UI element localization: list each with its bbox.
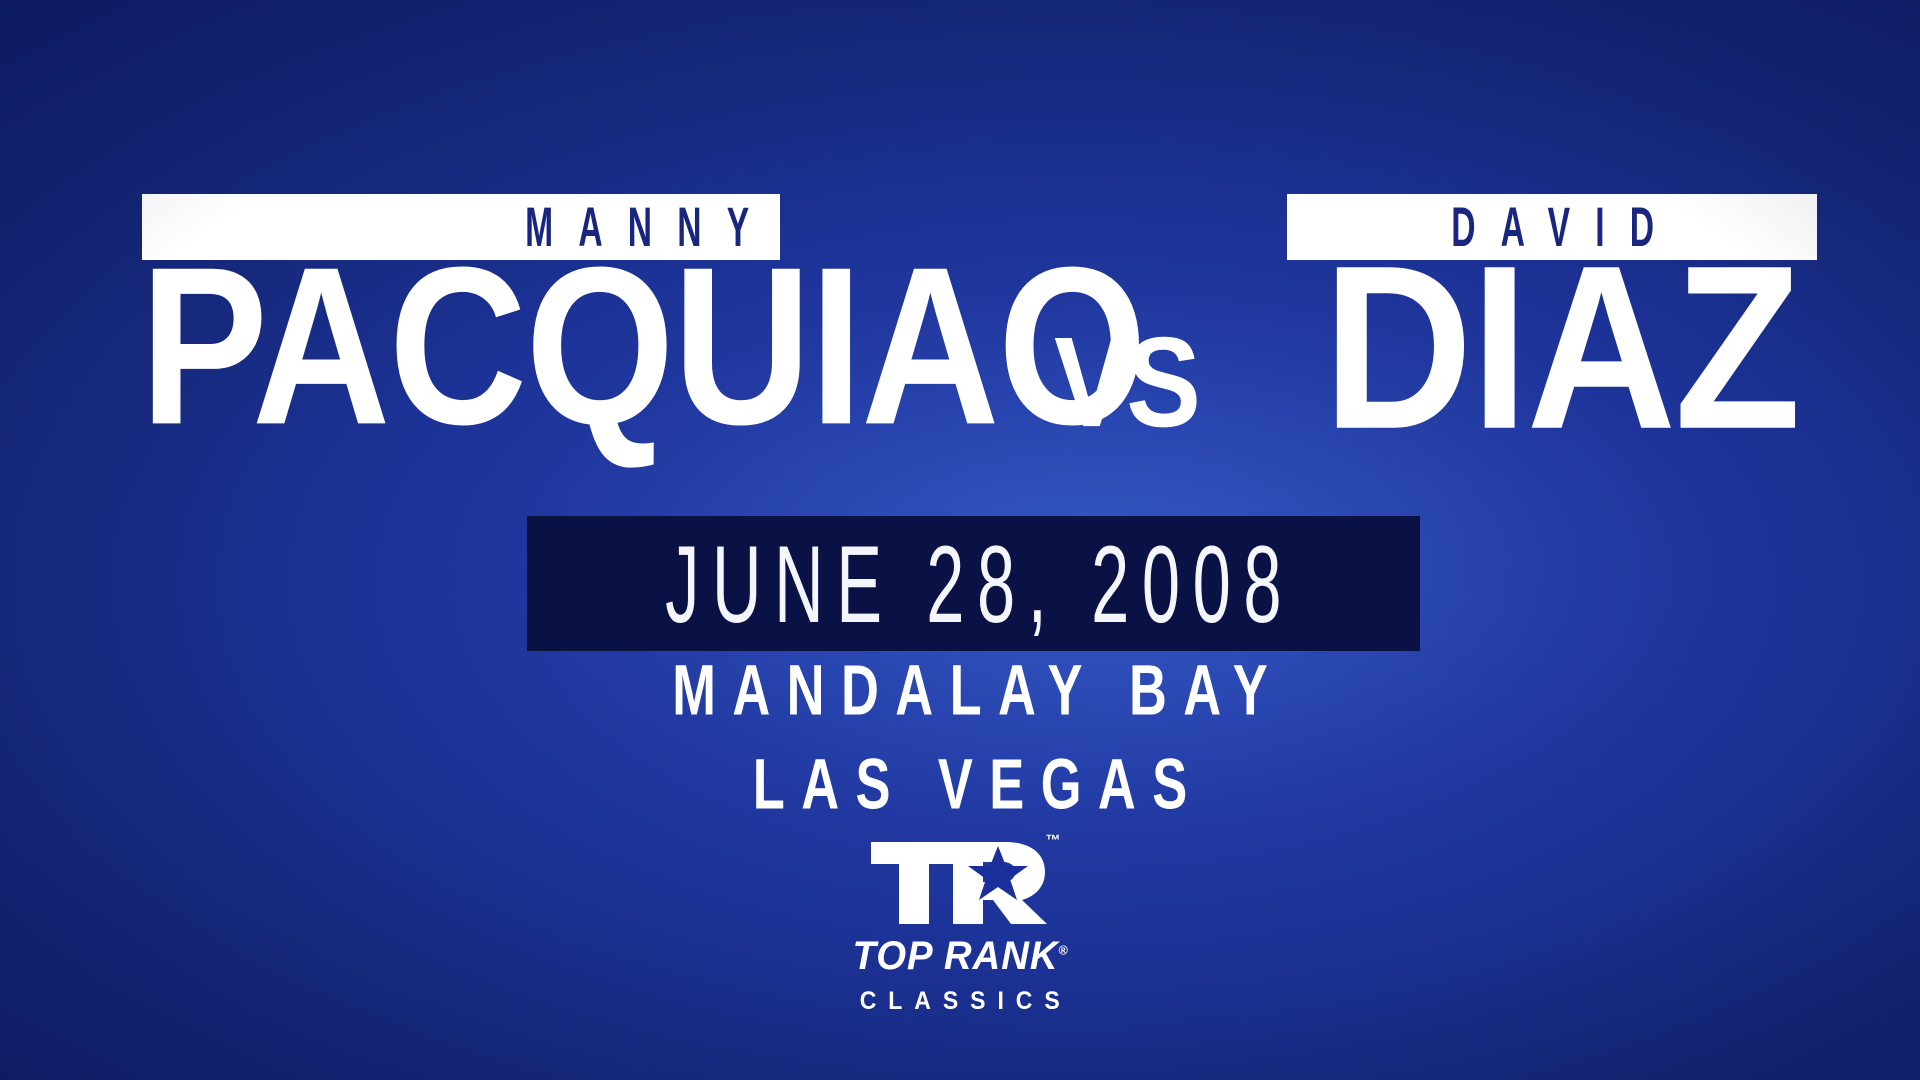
top-rank-wordmark-text: TOP RANK: [852, 934, 1058, 978]
event-venue-city: LAS VEGAS: [175, 748, 1766, 820]
versus-label: VS: [1054, 318, 1198, 446]
top-rank-wordmark: TOP RANK®: [852, 936, 1067, 976]
classics-wordmark: CLASSICS: [848, 989, 1072, 1014]
top-rank-classics-logo: ™ TOP RANK® CLASSICS: [0, 834, 1920, 1014]
fighter-right-last-name: DIAZ: [1323, 256, 1799, 438]
event-date: JUNE 28, 2008: [653, 529, 1295, 639]
tr-monogram-icon: ™: [865, 834, 1055, 930]
event-date-block: JUNE 28, 2008: [527, 516, 1420, 651]
registered-icon: ®: [1058, 943, 1067, 958]
trademark-icon: ™: [1046, 832, 1062, 849]
fighter-left-last-name: PACQUIAO: [140, 258, 1145, 433]
fight-poster: MANNY PACQUIAO VS DAVID DIAZ JUNE 28, 20…: [0, 0, 1920, 1080]
event-venue-name: MANDALAY BAY: [175, 654, 1766, 726]
